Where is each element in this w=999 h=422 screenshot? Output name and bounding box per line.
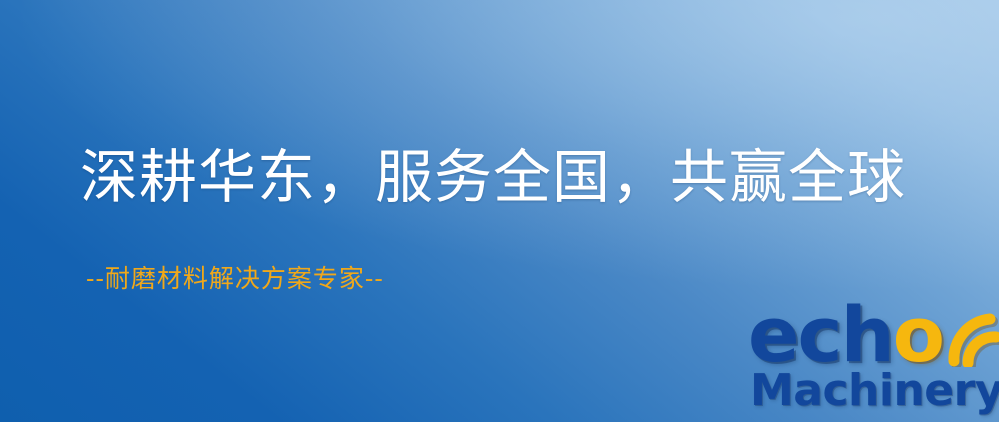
signal-waves-icon: [924, 293, 999, 367]
headline-text: 深耕华东，服务全国，共赢全球: [80, 148, 906, 206]
promotional-banner: 深耕华东，服务全国，共赢全球 --耐磨材料解决方案专家-- echo Machi…: [0, 0, 999, 422]
echo-machinery-logo[interactable]: echo Machinery®: [748, 297, 999, 422]
logo-subword-text: Machinery: [750, 365, 999, 416]
logo-subword: Machinery®: [750, 365, 999, 416]
logo-wordmark: echo: [748, 297, 943, 373]
subtitle-tagline: --耐磨材料解决方案专家--: [86, 266, 384, 291]
